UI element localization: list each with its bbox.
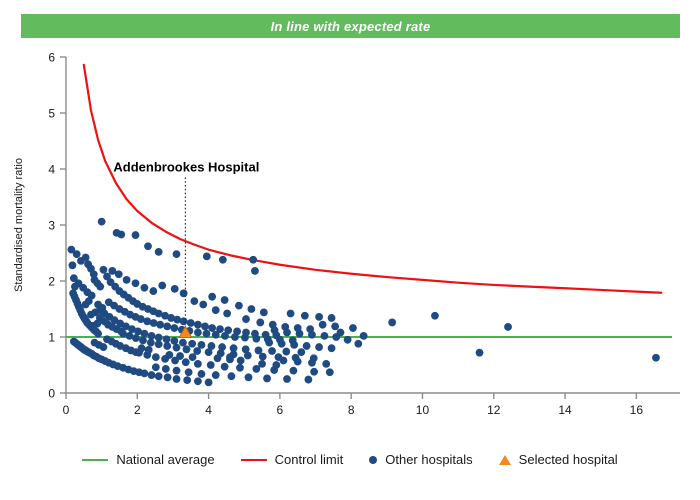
data-point (141, 330, 149, 338)
data-point (190, 297, 198, 305)
data-point (221, 332, 229, 340)
data-point (221, 296, 229, 304)
x-tick-label: 2 (134, 403, 141, 417)
y-tick-label: 4 (48, 163, 55, 177)
data-point (241, 334, 249, 342)
data-point (87, 311, 95, 319)
data-point (201, 322, 209, 330)
data-point (156, 321, 164, 329)
data-point (207, 361, 215, 369)
y-tick-label: 3 (48, 219, 55, 233)
data-point (152, 363, 160, 371)
other-hospitals-points (67, 218, 659, 387)
funnel-plot-svg: 01234560246810121416Expected mortalitySt… (0, 40, 700, 420)
data-point (280, 357, 288, 365)
data-point (319, 321, 327, 329)
data-point (139, 336, 147, 344)
data-point (155, 334, 163, 342)
data-point (328, 314, 336, 322)
data-point (308, 331, 316, 339)
x-tick-label: 6 (277, 403, 284, 417)
y-axis-title: Standardised mortality ratio (13, 158, 25, 292)
data-point (98, 218, 106, 226)
data-point (226, 353, 234, 361)
x-tick-label: 0 (63, 403, 70, 417)
data-point (148, 371, 156, 379)
data-point (183, 376, 191, 384)
data-point (297, 348, 305, 356)
data-point (188, 340, 196, 348)
data-point (173, 375, 181, 383)
y-tick-label: 0 (48, 387, 55, 401)
data-point (117, 328, 125, 336)
data-point (251, 267, 259, 275)
data-point (193, 347, 201, 355)
data-point (326, 368, 334, 376)
data-point (77, 257, 85, 265)
x-tick-label: 4 (205, 403, 212, 417)
x-tick-label: 14 (558, 403, 572, 417)
data-point (141, 370, 149, 378)
data-point (173, 344, 181, 352)
data-point (176, 352, 184, 360)
data-point (100, 266, 108, 274)
data-point (180, 317, 188, 325)
data-point (198, 370, 206, 378)
data-point (152, 353, 160, 361)
status-banner: In line with expected rate (21, 14, 680, 38)
data-point (69, 261, 77, 269)
data-point (265, 339, 273, 347)
data-point (185, 368, 193, 376)
data-point (223, 310, 231, 318)
data-point (170, 337, 178, 345)
data-point (117, 231, 125, 239)
data-point (194, 377, 202, 385)
data-point (272, 361, 280, 369)
data-point (182, 358, 190, 366)
data-point (163, 342, 171, 350)
data-point (183, 345, 191, 353)
data-point (163, 322, 171, 330)
data-point (242, 315, 250, 323)
legend-label: Control limit (275, 452, 344, 467)
data-point (148, 332, 156, 340)
data-point (349, 324, 357, 332)
legend-label: National average (116, 452, 214, 467)
data-point (208, 324, 216, 332)
legend-triangle-swatch (499, 455, 511, 465)
control-limit-curve (84, 65, 661, 293)
data-point (283, 375, 291, 383)
data-point (199, 301, 207, 309)
legend-item-other-hospitals[interactable]: Other hospitals (369, 452, 472, 467)
data-point (228, 372, 236, 380)
y-tick-label: 1 (48, 331, 55, 345)
data-point (236, 364, 244, 372)
legend-item-selected-hospital[interactable]: Selected hospital (499, 452, 618, 467)
data-point (158, 282, 166, 290)
data-point (123, 276, 131, 284)
data-point (132, 279, 140, 287)
data-point (283, 329, 291, 337)
banner-title: In line with expected rate (271, 19, 431, 34)
data-point (194, 321, 202, 329)
data-point (138, 344, 146, 352)
legend-item-control-limit[interactable]: Control limit (241, 452, 344, 467)
legend-dot-swatch (369, 456, 377, 464)
data-point (96, 283, 104, 291)
data-point (82, 301, 90, 309)
legend-label: Other hospitals (385, 452, 472, 467)
data-point (245, 373, 253, 381)
data-point (282, 348, 290, 356)
data-point (249, 256, 257, 264)
data-point (73, 250, 81, 258)
data-point (360, 332, 368, 340)
y-tick-label: 6 (48, 51, 55, 65)
data-point (315, 343, 323, 351)
data-point (244, 352, 252, 360)
data-point (171, 285, 179, 293)
data-point (290, 341, 298, 349)
data-point (212, 306, 220, 314)
data-point (132, 334, 140, 342)
data-point (149, 287, 157, 295)
data-point (290, 367, 298, 375)
data-point (308, 359, 316, 367)
data-point (179, 339, 187, 347)
data-point (89, 322, 97, 330)
data-point (212, 331, 220, 339)
data-point (189, 353, 197, 361)
data-point (331, 322, 339, 330)
data-point (310, 368, 318, 376)
data-point (258, 360, 266, 368)
data-point (208, 293, 216, 301)
y-tick-label: 2 (48, 275, 55, 289)
data-point (305, 376, 313, 384)
data-point (203, 330, 211, 338)
data-point (205, 348, 213, 356)
data-point (231, 333, 239, 341)
x-tick-label: 10 (416, 403, 430, 417)
x-tick-label: 16 (630, 403, 644, 417)
data-point (431, 312, 439, 320)
data-point (337, 329, 345, 337)
data-point (268, 347, 276, 355)
legend-line-swatch (82, 459, 108, 461)
data-point (163, 335, 171, 343)
data-point (187, 319, 195, 327)
legend-item-national-average[interactable]: National average (82, 452, 214, 467)
data-point (388, 319, 396, 327)
data-point (260, 308, 268, 316)
data-point (203, 252, 211, 260)
data-point (328, 344, 336, 352)
data-point (205, 378, 213, 386)
data-point (235, 302, 243, 310)
y-tick-label: 5 (48, 107, 55, 121)
data-point (294, 358, 302, 366)
x-tick-label: 8 (348, 403, 355, 417)
data-point (165, 351, 173, 359)
chart-area: 01234560246810121416Expected mortalitySt… (0, 40, 700, 420)
data-point (504, 323, 512, 331)
data-point (247, 305, 255, 313)
data-point (301, 312, 309, 320)
data-point (252, 335, 260, 343)
data-point (354, 340, 362, 348)
data-point (296, 330, 304, 338)
data-point (315, 313, 323, 321)
data-point (214, 354, 222, 362)
data-point (271, 326, 279, 334)
data-point (147, 339, 155, 347)
data-point (155, 372, 163, 380)
chart-legend: National averageControl limitOther hospi… (0, 452, 700, 467)
data-point (173, 250, 181, 258)
data-point (145, 346, 153, 354)
data-point (132, 231, 140, 239)
data-point (173, 367, 181, 375)
data-point (344, 336, 352, 344)
data-point (94, 330, 102, 338)
data-point (219, 256, 227, 264)
data-point (652, 354, 660, 362)
data-point (278, 340, 286, 348)
data-point (263, 375, 271, 383)
data-point (98, 304, 106, 312)
data-point (221, 363, 229, 371)
data-point (322, 360, 330, 368)
data-point (144, 242, 152, 250)
data-point (141, 284, 149, 292)
legend-label: Selected hospital (519, 452, 618, 467)
data-point (194, 360, 202, 368)
data-point (155, 248, 163, 256)
data-point (180, 289, 188, 297)
data-point (170, 324, 178, 332)
data-point (256, 319, 264, 327)
data-point (476, 349, 484, 357)
data-point (287, 310, 295, 318)
data-point (155, 340, 163, 348)
funnel-plot-page: In line with expected rate 0123456024681… (0, 0, 700, 500)
data-point (321, 332, 329, 340)
data-point (194, 329, 202, 337)
data-point (303, 342, 311, 350)
data-point (162, 365, 170, 373)
data-point (237, 357, 245, 365)
legend-line-swatch (241, 459, 267, 461)
data-point (164, 373, 172, 381)
x-tick-label: 12 (487, 403, 501, 417)
data-point (108, 267, 116, 275)
data-point (91, 339, 99, 347)
data-point (212, 371, 220, 379)
data-point (259, 353, 267, 361)
annotation-label: Addenbrookes Hospital (113, 159, 259, 174)
